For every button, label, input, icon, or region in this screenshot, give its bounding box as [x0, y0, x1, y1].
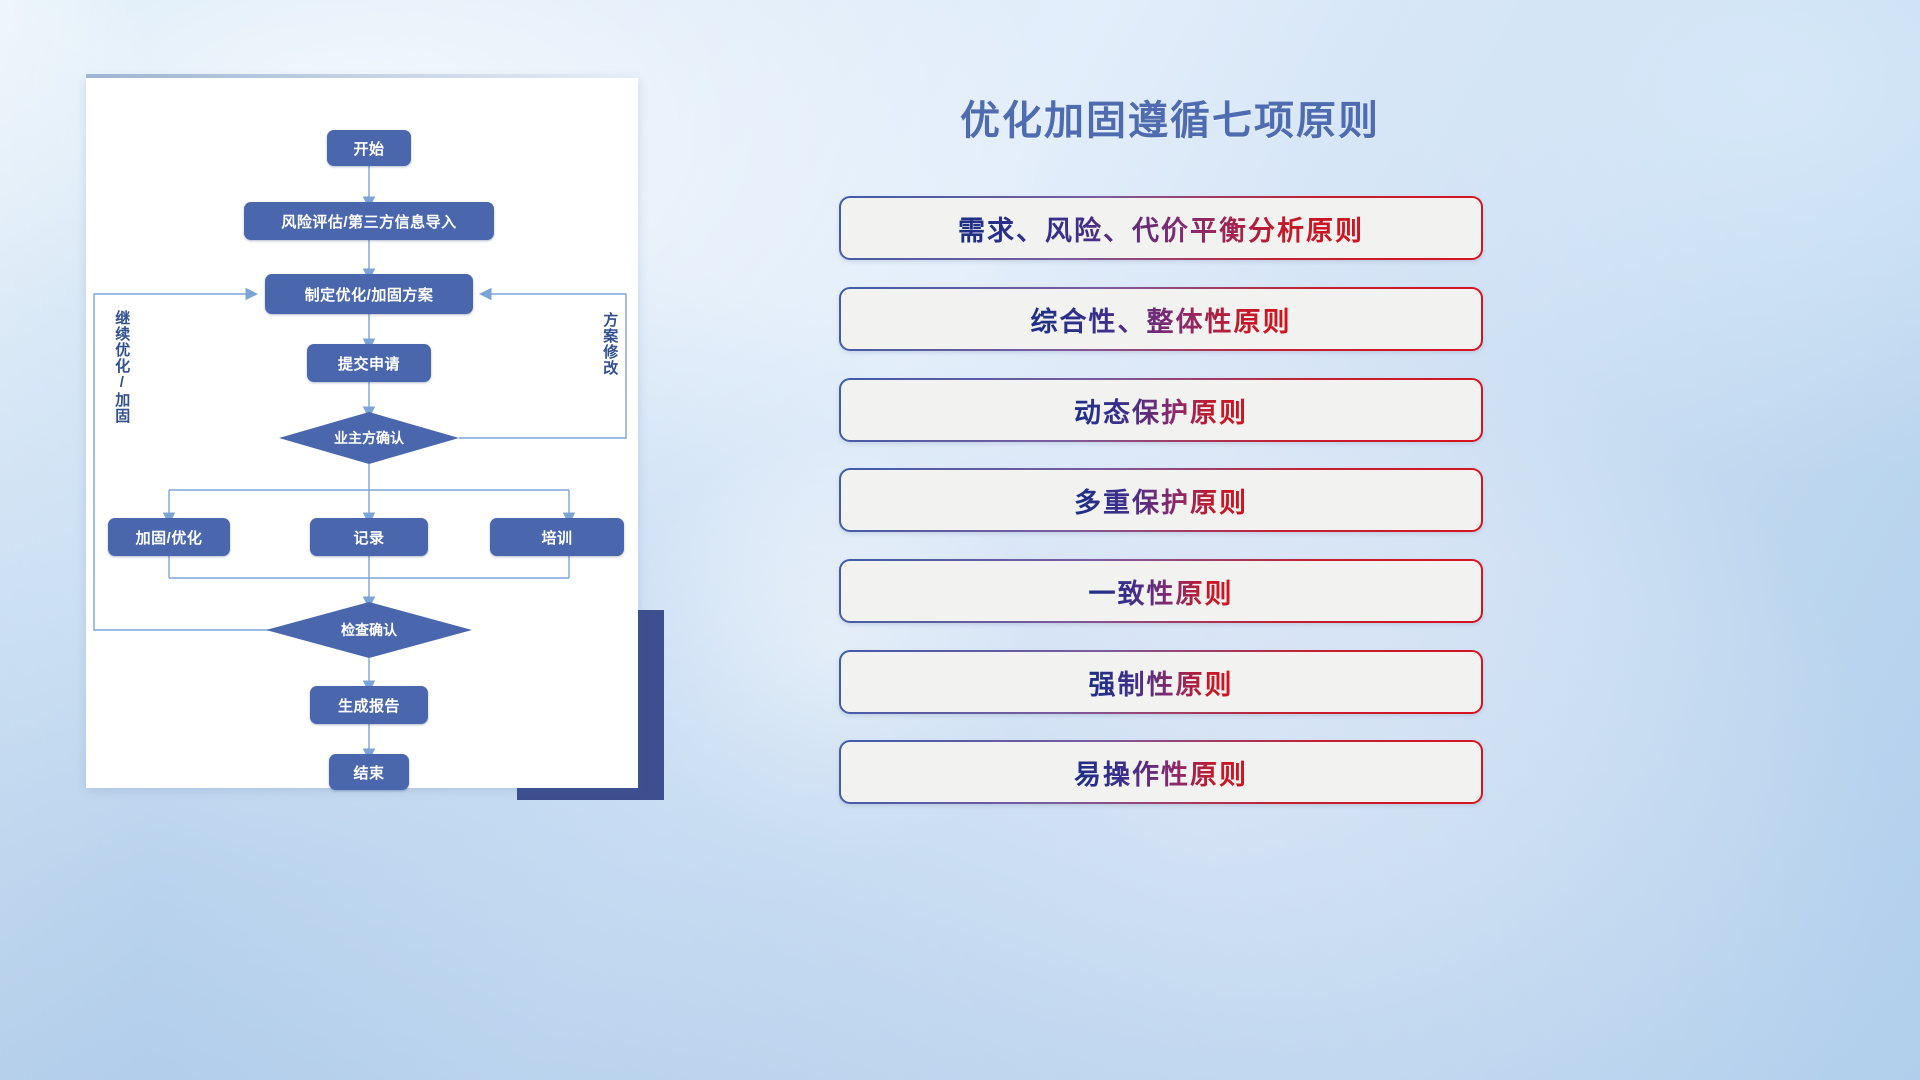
principle-card-6[interactable]: 强制性原则	[839, 650, 1483, 714]
flow-node-label: 检查确认	[341, 620, 397, 640]
flow-node-label: 制定优化/加固方案	[305, 284, 434, 305]
principle-card-label: 易操作性原则	[1074, 753, 1248, 792]
principle-card-label: 强制性原则	[1089, 663, 1234, 702]
principles-panel: 优化加固遵循七项原则 需求、风险、代价平衡分析原则 综合性、整体性原则 动态保护…	[820, 0, 1920, 1080]
flow-edge-label-plan-revision: 方案修改	[602, 312, 617, 412]
flow-node-report[interactable]: 生成报告	[310, 686, 428, 724]
principle-card-label: 需求、风险、代价平衡分析原则	[958, 209, 1364, 248]
flow-node-label: 培训	[541, 527, 572, 548]
flow-node-reinforce[interactable]: 加固/优化	[108, 518, 230, 556]
flow-node-start[interactable]: 开始	[327, 130, 411, 166]
flow-node-label: 提交申请	[338, 353, 400, 374]
flow-node-risk-assessment[interactable]: 风险评估/第三方信息导入	[244, 202, 494, 240]
flow-node-label: 结束	[353, 762, 384, 783]
flow-node-label: 加固/优化	[136, 527, 203, 548]
principle-card-1[interactable]: 需求、风险、代价平衡分析原则	[839, 196, 1483, 260]
principle-card-2[interactable]: 综合性、整体性原则	[839, 287, 1483, 351]
flow-node-training[interactable]: 培训	[490, 518, 624, 556]
principle-card-3[interactable]: 动态保护原则	[839, 378, 1483, 442]
flow-node-label: 记录	[353, 527, 384, 548]
flow-edge-label-continue-optimize: 继续优化/加固	[114, 310, 129, 440]
principle-card-label: 多重保护原则	[1074, 481, 1248, 520]
flow-node-label: 开始	[353, 138, 384, 159]
flow-node-submit[interactable]: 提交申请	[307, 344, 431, 382]
principle-card-label: 一致性原则	[1089, 572, 1234, 611]
flow-node-label: 业主方确认	[334, 428, 404, 448]
principle-card-7[interactable]: 易操作性原则	[839, 740, 1483, 804]
principle-card-5[interactable]: 一致性原则	[839, 559, 1483, 623]
principles-title: 优化加固遵循七项原则	[820, 88, 1520, 146]
flowchart-panel: 开始 风险评估/第三方信息导入 制定优化/加固方案 提交申请 业主方确认 加固/…	[86, 78, 638, 788]
flow-node-label: 生成报告	[338, 695, 400, 716]
flow-node-end[interactable]: 结束	[329, 754, 409, 790]
flow-node-label: 风险评估/第三方信息导入	[281, 211, 456, 232]
principle-card-4[interactable]: 多重保护原则	[839, 468, 1483, 532]
principle-card-label: 动态保护原则	[1074, 391, 1248, 430]
principle-card-label: 综合性、整体性原则	[1031, 300, 1292, 339]
flow-node-plan[interactable]: 制定优化/加固方案	[265, 274, 473, 314]
flow-node-record[interactable]: 记录	[310, 518, 428, 556]
